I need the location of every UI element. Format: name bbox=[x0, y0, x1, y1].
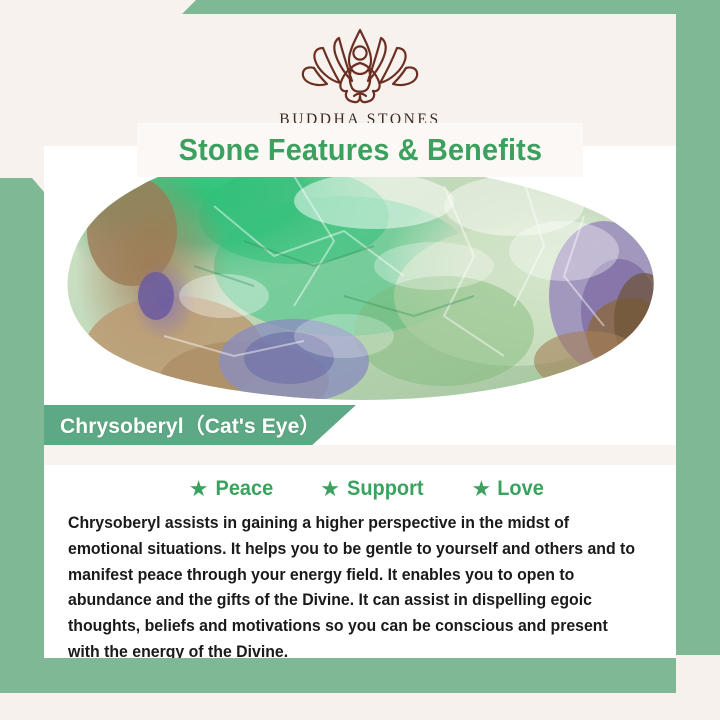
benefit-label: Peace bbox=[215, 477, 273, 501]
brand-logo: BUDDHA STONES bbox=[0, 26, 720, 129]
benefit-label: Love bbox=[497, 477, 544, 501]
frame-left-bar bbox=[0, 178, 44, 693]
benefit-label: Support bbox=[347, 477, 423, 501]
star-icon: ★ bbox=[320, 478, 340, 500]
frame-bottom-bar bbox=[0, 655, 676, 693]
stone-description: Chrysoberyl assists in gaining a higher … bbox=[68, 510, 641, 658]
benefits-row: ★ Peace ★ Support ★ Love bbox=[44, 465, 676, 513]
page-title-band: Stone Features & Benefits bbox=[137, 123, 583, 177]
benefit-item-peace: ★ Peace bbox=[189, 477, 274, 501]
benefit-item-love: ★ Love bbox=[471, 477, 545, 501]
lotus-meditation-icon bbox=[294, 26, 426, 108]
star-icon: ★ bbox=[189, 478, 209, 500]
page-title: Stone Features & Benefits bbox=[178, 132, 542, 168]
stone-name-label: Chrysoberyl（Cat's Eye） bbox=[60, 405, 320, 445]
stone-name-banner: Chrysoberyl（Cat's Eye） bbox=[44, 405, 356, 445]
content-card: Chrysoberyl（Cat's Eye） ★ Peace ★ Support… bbox=[44, 146, 676, 658]
stone-photo bbox=[44, 146, 676, 424]
star-icon: ★ bbox=[471, 478, 491, 500]
frame-bottom-bar-2 bbox=[0, 655, 584, 693]
benefit-item-support: ★ Support bbox=[320, 477, 425, 501]
divider-strip bbox=[44, 445, 676, 465]
